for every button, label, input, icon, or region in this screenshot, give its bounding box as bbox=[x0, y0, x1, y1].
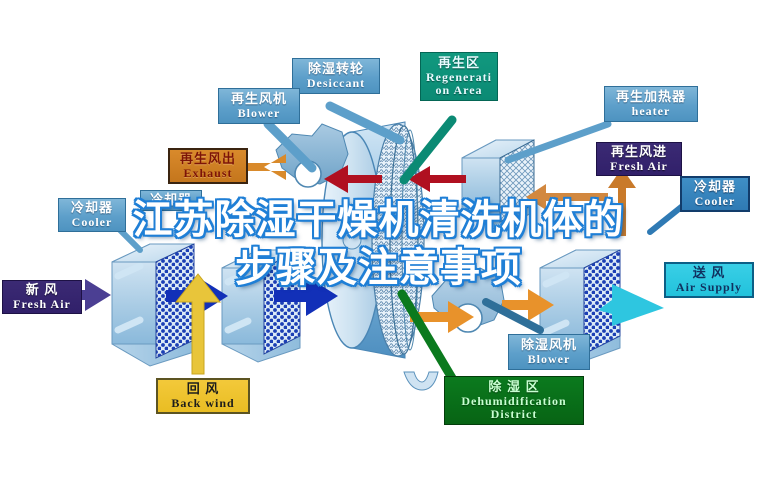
diagram-canvas: XT bbox=[0, 0, 757, 488]
label-dehumidify-blower: 除湿风机 Blower bbox=[508, 334, 590, 370]
label-regeneration-area-en2: on Area bbox=[424, 84, 494, 97]
label-dehumidification-district-cn: 除 湿 区 bbox=[449, 380, 579, 395]
label-dehumidify-blower-cn: 除湿风机 bbox=[513, 338, 585, 353]
label-fresh-air-cn: 新 风 bbox=[7, 283, 77, 298]
cooler-unit-left bbox=[112, 244, 194, 366]
label-back-wind-en: Back wind bbox=[162, 397, 244, 410]
regen-inlet-arrow bbox=[526, 184, 608, 210]
label-air-supply-cn: 送 风 bbox=[670, 266, 748, 281]
regen-riser-arrow bbox=[608, 168, 636, 236]
label-cooler-right: 冷却器 Cooler bbox=[680, 176, 750, 212]
label-regeneration-area: 再生区 Regenerati on Area bbox=[420, 52, 498, 101]
label-regeneration-blower-cn: 再生风机 bbox=[223, 92, 295, 107]
label-dehumidification-district-en2: District bbox=[449, 408, 579, 421]
label-cooler-mid: 冷却器 bbox=[140, 190, 202, 211]
label-fresh-air: 新 风 Fresh Air bbox=[2, 280, 82, 314]
label-desiccant-wheel-cn: 除湿转轮 bbox=[297, 62, 375, 77]
label-regeneration-area-en1: Regenerati bbox=[424, 71, 494, 84]
label-dehumidify-blower-en: Blower bbox=[513, 353, 585, 366]
label-dehumidification-district: 除 湿 区 Dehumidification District bbox=[444, 376, 584, 425]
label-fresh-air-en: Fresh Air bbox=[7, 298, 77, 311]
label-regeneration-heater-en: heater bbox=[609, 105, 693, 118]
label-dehumidification-district-en1: Dehumidification bbox=[449, 395, 579, 408]
label-desiccant-wheel: 除湿转轮 Desiccant bbox=[292, 58, 380, 94]
label-cooler-left: 冷却器 Cooler bbox=[58, 198, 126, 232]
label-cooler-right-cn: 冷却器 bbox=[685, 180, 745, 195]
label-regeneration-heater-cn: 再生加热器 bbox=[609, 90, 693, 105]
label-air-supply-en: Air Supply bbox=[670, 281, 748, 294]
label-regeneration-heater: 再生加热器 heater bbox=[604, 86, 698, 122]
label-regeneration-blower: 再生风机 Blower bbox=[218, 88, 300, 124]
label-desiccant-wheel-en: Desiccant bbox=[297, 77, 375, 90]
cooler-unit-mid bbox=[222, 250, 300, 362]
label-cooler-left-en: Cooler bbox=[62, 216, 122, 229]
label-air-supply: 送 风 Air Supply bbox=[664, 262, 754, 298]
label-exhaust: 再生风出 Exhaust bbox=[168, 148, 248, 184]
label-cooler-mid-cn: 冷却器 bbox=[144, 193, 198, 208]
dehumidify-blower-unit bbox=[432, 268, 504, 332]
label-regeneration-fresh-air-cn: 再生风进 bbox=[601, 145, 677, 160]
label-back-wind-cn: 回 风 bbox=[162, 382, 244, 397]
label-regeneration-fresh-air: 再生风进 Fresh Air bbox=[596, 142, 682, 176]
label-back-wind: 回 风 Back wind bbox=[156, 378, 250, 414]
label-exhaust-en: Exhaust bbox=[174, 167, 242, 180]
label-exhaust-cn: 再生风出 bbox=[174, 152, 242, 167]
label-cooler-left-cn: 冷却器 bbox=[62, 201, 122, 216]
label-regeneration-blower-en: Blower bbox=[223, 107, 295, 120]
label-regeneration-area-cn: 再生区 bbox=[424, 56, 494, 71]
label-cooler-right-en: Cooler bbox=[685, 195, 745, 208]
label-regeneration-fresh-air-en: Fresh Air bbox=[601, 160, 677, 173]
